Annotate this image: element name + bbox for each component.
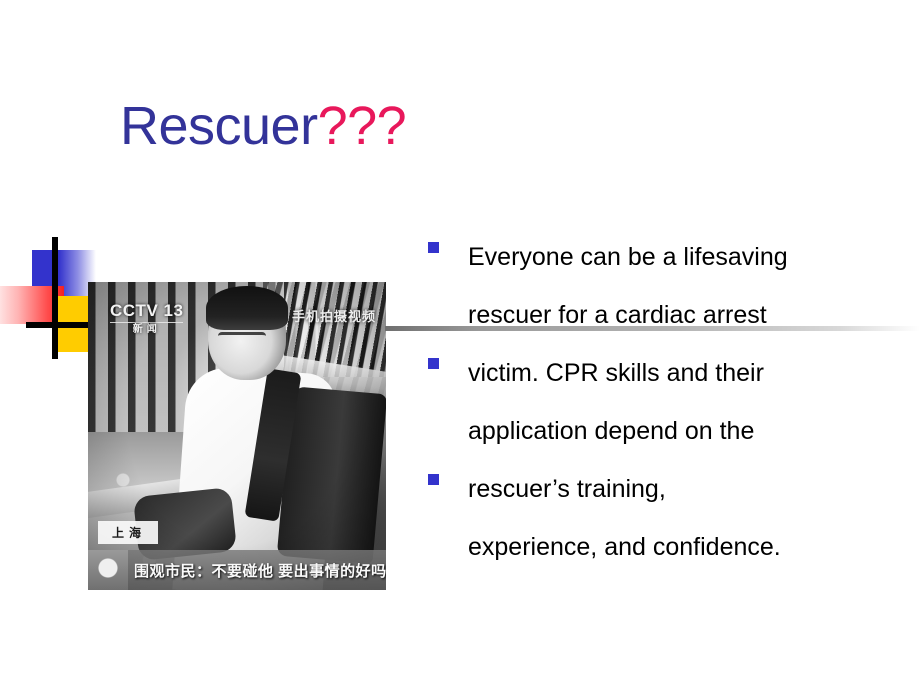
cctv-logo-subtext: 新闻	[110, 322, 183, 335]
bullet-line: experience, and confidence.	[468, 518, 898, 576]
photo-city-tag: 上海	[98, 521, 158, 544]
bullet-item: victim. CPR skills and their application…	[428, 344, 898, 460]
square-bullet-icon	[428, 242, 439, 253]
cctv-logo-text: CCTV 13	[110, 302, 183, 319]
presentation-slide: Rescuer??? CCTV 13 新闻 手机拍摄视频 上海	[0, 0, 920, 690]
body-text-block: Everyone can be a lifesaving rescuer for…	[428, 228, 898, 576]
photo-source-label: 手机拍摄视频	[292, 306, 376, 325]
page-title: Rescuer???	[120, 98, 406, 155]
news-ticker-text: 围观市民：不要碰他 要出事情的好吗	[128, 560, 386, 581]
bullet-item: Everyone can be a lifesaving rescuer for…	[428, 228, 898, 344]
bullet-line: victim. CPR skills and their	[468, 344, 898, 402]
cctv-channel-logo: CCTV 13 新闻	[110, 302, 183, 335]
bullet-line: Everyone can be a lifesaving	[468, 228, 898, 286]
square-bullet-icon	[428, 474, 439, 485]
motif-vertical-bar	[52, 237, 58, 359]
title-main-text: Rescuer	[120, 96, 318, 156]
bullet-line: rescuer for a cardiac arrest	[468, 286, 898, 344]
bullet-item: rescuer’s training, experience, and conf…	[428, 460, 898, 576]
square-bullet-icon	[428, 358, 439, 369]
news-ticker-icon	[88, 550, 128, 590]
bullet-line: application depend on the	[468, 402, 898, 460]
bullet-line: rescuer’s training,	[468, 460, 898, 518]
news-ticker-bar: 围观市民：不要碰他 要出事情的好吗	[88, 550, 386, 590]
title-question-marks: ???	[318, 96, 407, 156]
news-photo: CCTV 13 新闻 手机拍摄视频 上海 围观市民：不要碰他 要出事情的好吗	[88, 282, 386, 590]
